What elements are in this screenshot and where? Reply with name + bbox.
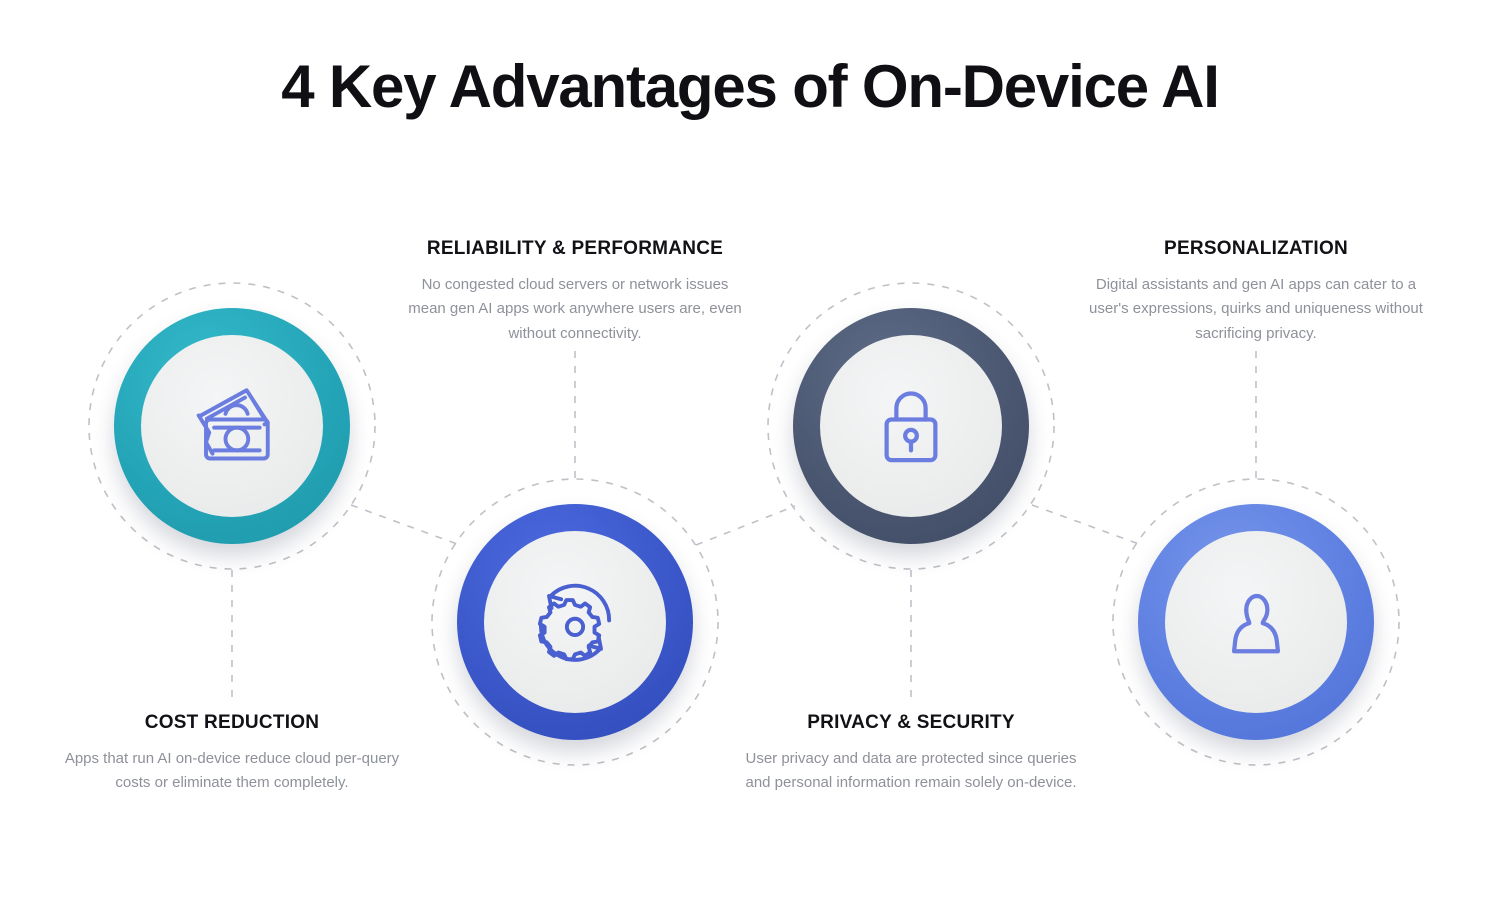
person-icon — [1204, 570, 1308, 674]
text-block-cost-reduction: COST REDUCTION Apps that run AI on-devic… — [62, 712, 402, 796]
body-reliability-performance: No congested cloud servers or network is… — [405, 273, 745, 346]
connector-privacy-to-personalization — [1032, 505, 1139, 544]
node-personalization[interactable] — [1138, 504, 1374, 740]
body-privacy-security: User privacy and data are protected sinc… — [741, 747, 1081, 796]
connector-reliability-to-privacy — [696, 506, 795, 545]
node-reliability-performance[interactable] — [457, 504, 693, 740]
node-inner-reliability — [484, 531, 666, 713]
heading-reliability-performance: RELIABILITY & PERFORMANCE — [405, 238, 745, 260]
node-inner-privacy — [820, 335, 1002, 517]
heading-cost-reduction: COST REDUCTION — [62, 712, 402, 734]
text-block-personalization: PERSONALIZATION Digital assistants and g… — [1086, 238, 1426, 346]
gear-refresh-icon — [523, 570, 627, 674]
node-inner-personalization — [1165, 531, 1347, 713]
body-cost-reduction: Apps that run AI on-device reduce cloud … — [62, 747, 402, 796]
node-privacy-security[interactable] — [793, 308, 1029, 544]
banknotes-icon — [180, 374, 284, 478]
text-block-reliability-performance: RELIABILITY & PERFORMANCE No congested c… — [405, 238, 745, 346]
page-title: 4 Key Advantages of On-Device AI — [0, 52, 1500, 121]
padlock-icon — [859, 374, 963, 478]
node-cost-reduction[interactable] — [114, 308, 350, 544]
heading-privacy-security: PRIVACY & SECURITY — [741, 712, 1081, 734]
infographic-canvas: 4 Key Advantages of On-Device AI — [0, 0, 1500, 900]
text-block-privacy-security: PRIVACY & SECURITY User privacy and data… — [741, 712, 1081, 796]
connector-cost-to-reliability — [351, 505, 457, 544]
node-inner-cost — [141, 335, 323, 517]
heading-personalization: PERSONALIZATION — [1086, 238, 1426, 260]
body-personalization: Digital assistants and gen AI apps can c… — [1086, 273, 1426, 346]
